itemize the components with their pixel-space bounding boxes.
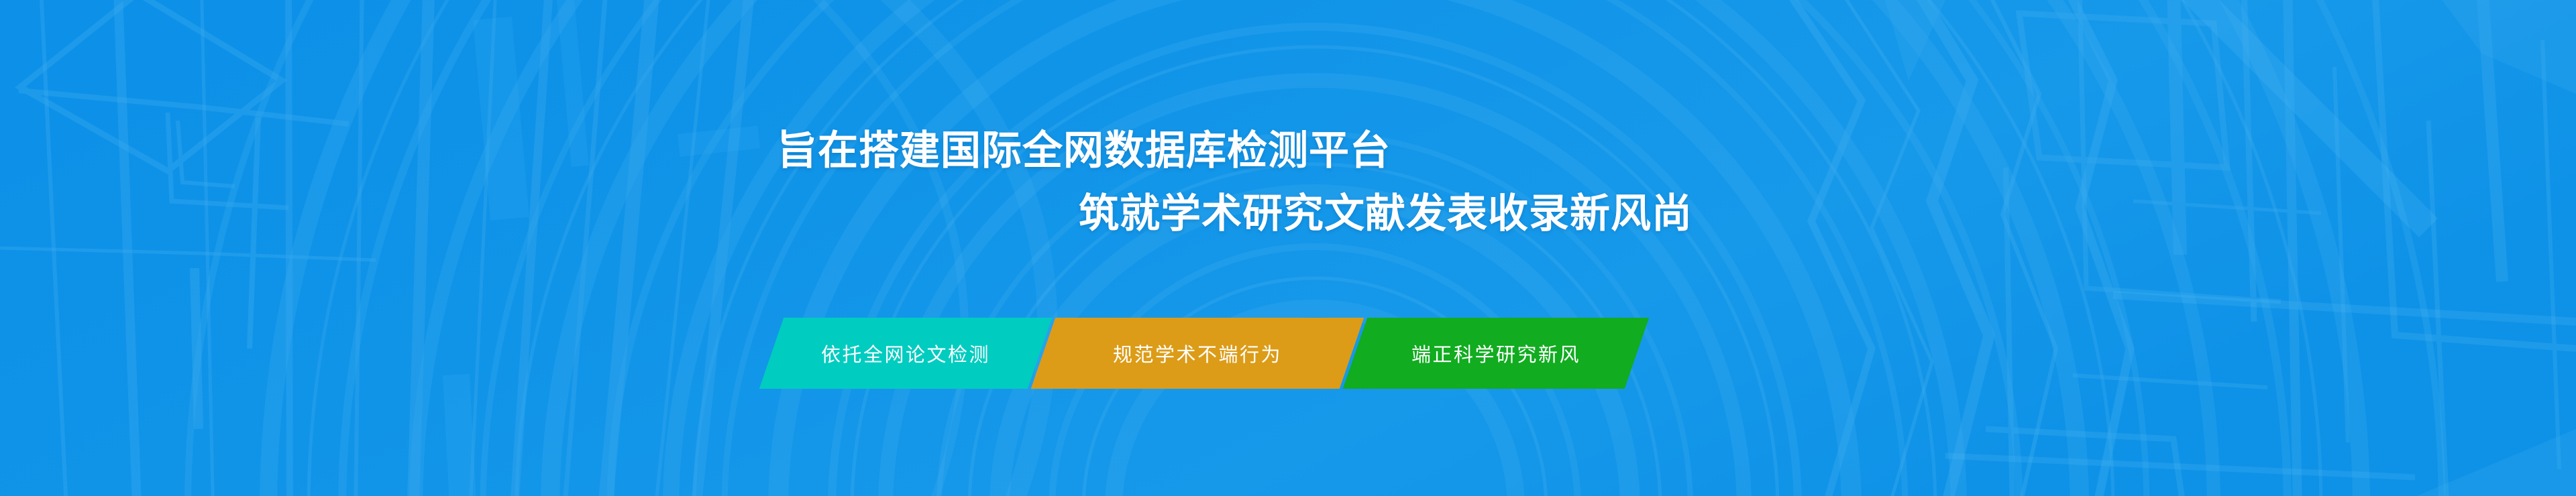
- feature-tag-3[interactable]: 端正科学研究新风: [1343, 318, 1649, 389]
- corner-accent-shapes: [1885, 0, 2576, 496]
- headline-line-2: 筑就学术研究文献发表收录新风尚: [0, 188, 2576, 240]
- background-decoration: [0, 0, 2576, 496]
- feature-tag-strip: 依托全网论文检测 规范学术不端行为 端正科学研究新风: [771, 318, 1637, 389]
- feature-tag-1[interactable]: 依托全网论文检测: [759, 318, 1052, 389]
- ring-group-outer: [188, 0, 2442, 496]
- accent-blocks-left: [443, 0, 760, 496]
- left-circuit-lines: [40, 0, 751, 496]
- right-circuit-grid: [1986, 0, 2576, 496]
- promo-banner: 旨在搭建国际全网数据库检测平台 筑就学术研究文献发表收录新风尚 依托全网论文检测…: [0, 0, 2576, 496]
- headline-block: 旨在搭建国际全网数据库检测平台 筑就学术研究文献发表收录新风尚: [0, 125, 2576, 240]
- background-pattern-svg: [0, 0, 2576, 496]
- feature-tag-3-label: 端正科学研究新风: [1411, 339, 1580, 367]
- feature-tag-2-label: 规范学术不端行为: [1113, 339, 1282, 367]
- right-zigzag-lines: [1784, 0, 2130, 496]
- feature-tag-2[interactable]: 规范学术不端行为: [1031, 318, 1364, 389]
- ring-group-inner: [309, 0, 2321, 496]
- headline-line-1: 旨在搭建国际全网数据库检测平台: [0, 125, 2576, 177]
- feature-tag-1-label: 依托全网论文检测: [821, 339, 990, 367]
- centre-sweep: [792, 0, 1047, 496]
